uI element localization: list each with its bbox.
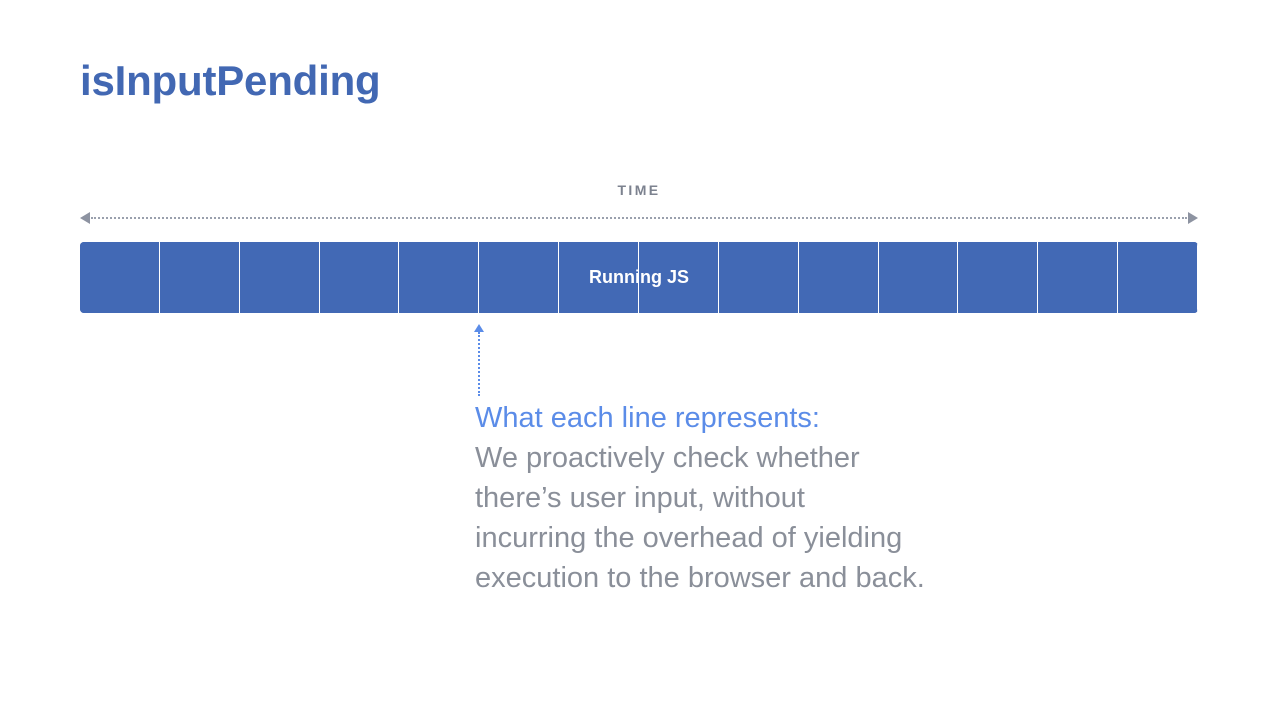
bar-segment bbox=[80, 242, 160, 313]
arrow-up-dotted-icon bbox=[474, 324, 484, 396]
timeline-axis-label: TIME bbox=[80, 182, 1198, 198]
bar-segment bbox=[1038, 242, 1118, 313]
axis-dotted-line bbox=[91, 217, 1187, 219]
callout-body: We proactively check whether there’s use… bbox=[475, 438, 995, 598]
bar-segment bbox=[1118, 242, 1198, 313]
bar-segment bbox=[719, 242, 799, 313]
connector-dotted-line bbox=[478, 332, 480, 396]
callout-body-line: execution to the browser and back. bbox=[475, 558, 995, 598]
arrow-left-icon bbox=[80, 212, 90, 224]
callout-text-block: What each line represents: We proactivel… bbox=[475, 398, 995, 598]
arrow-right-icon bbox=[1188, 212, 1198, 224]
bar-segment bbox=[240, 242, 320, 313]
page-title: isInputPending bbox=[80, 58, 381, 104]
bar-segment bbox=[799, 242, 879, 313]
bar-segment bbox=[479, 242, 559, 313]
bar-segment bbox=[320, 242, 400, 313]
timeline-axis: TIME bbox=[80, 182, 1198, 226]
callout-body-line: We proactively check whether bbox=[475, 438, 995, 478]
bar-segment bbox=[639, 242, 719, 313]
bar-segment bbox=[559, 242, 639, 313]
bar-segment bbox=[879, 242, 959, 313]
timeline-axis-line bbox=[80, 212, 1198, 224]
callout-heading: What each line represents: bbox=[475, 398, 995, 438]
running-js-bar: Running JS bbox=[80, 242, 1198, 313]
bar-segment bbox=[160, 242, 240, 313]
connector-arrowhead bbox=[474, 324, 484, 332]
bar-segment bbox=[399, 242, 479, 313]
callout-body-line: incurring the overhead of yielding bbox=[475, 518, 995, 558]
callout-body-line: there’s user input, without bbox=[475, 478, 995, 518]
bar-segment bbox=[958, 242, 1038, 313]
